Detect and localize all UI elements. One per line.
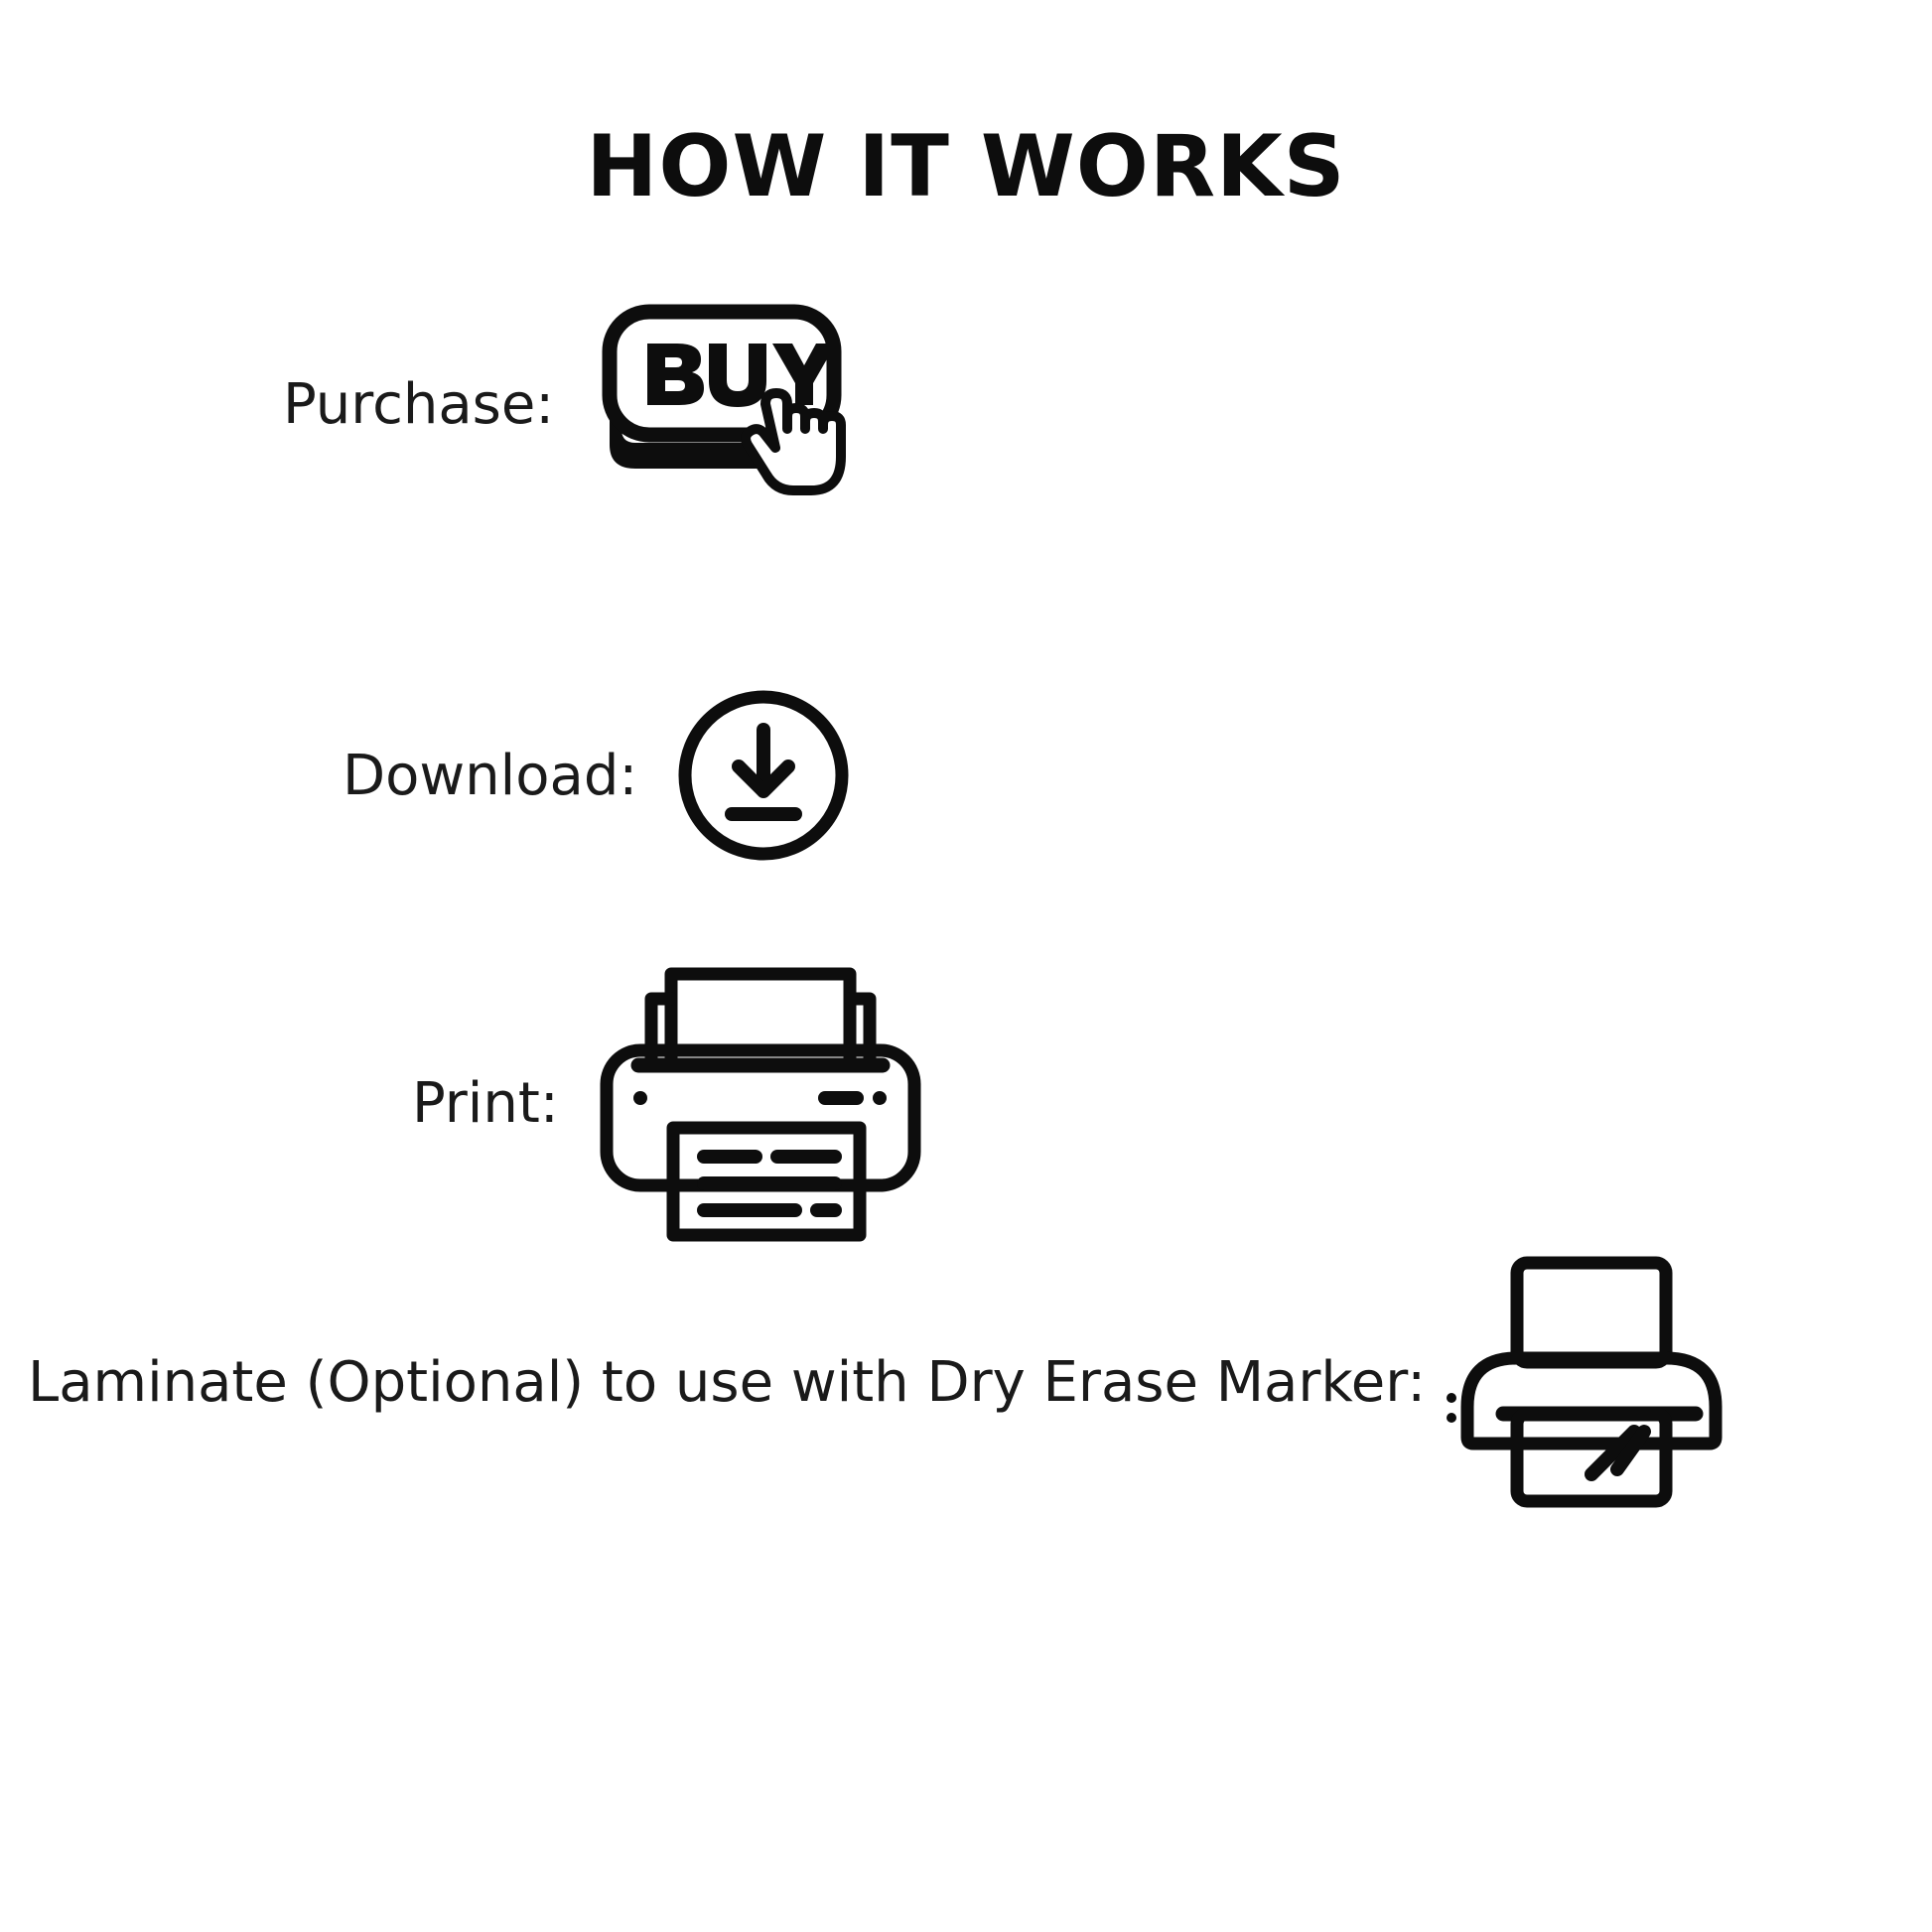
buy-button-with-pointing-hand-icon [596, 298, 864, 511]
step-purchase-label: Purchase: [283, 372, 554, 437]
step-download-label: Download: [343, 744, 637, 808]
step-laminate: Laminate (Optional) to use with Dry Eras… [28, 1253, 1733, 1511]
printer-icon [597, 959, 924, 1247]
page-title: HOW IT WORKS [0, 117, 1932, 216]
step-print: Print: [412, 959, 924, 1247]
step-print-label: Print: [412, 1071, 559, 1136]
step-download: Download: [343, 687, 852, 864]
laminator-icon [1446, 1253, 1733, 1511]
step-laminate-label: Laminate (Optional) to use with Dry Eras… [28, 1350, 1426, 1415]
step-purchase: Purchase: [283, 298, 864, 511]
download-circle-arrow-icon [675, 687, 852, 864]
